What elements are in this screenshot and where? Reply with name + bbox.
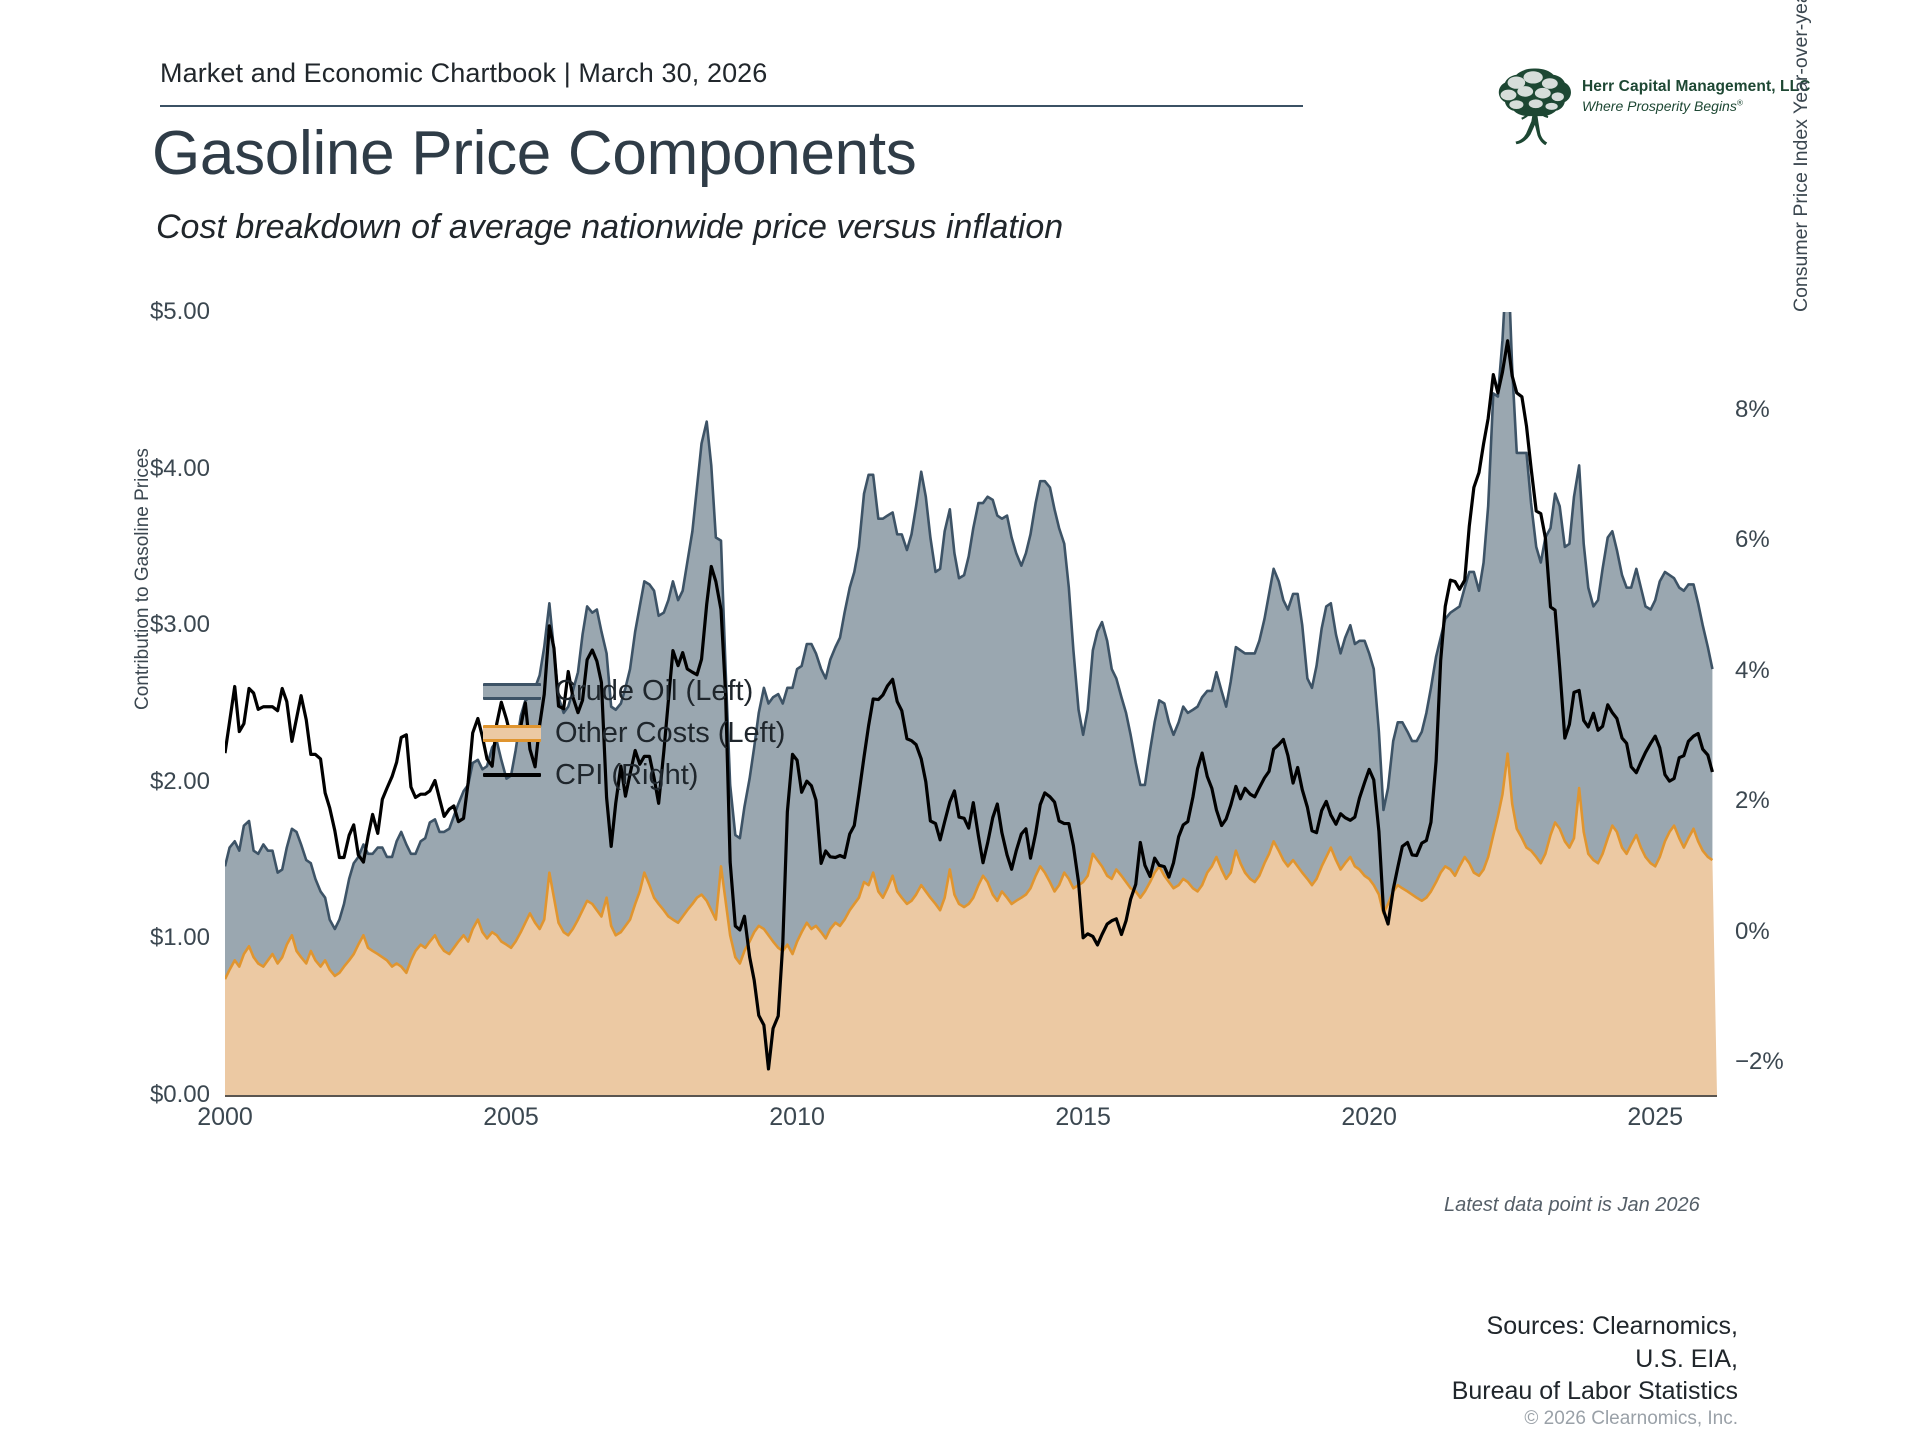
legend-item-other-costs[interactable]: Other Costs (Left) (483, 712, 785, 754)
legend-item-cpi[interactable]: CPI (Right) (483, 754, 785, 796)
copyright-note: © 2026 Clearnomics, Inc. (1524, 1408, 1738, 1430)
y-tick-right-0: −2% (1735, 1048, 1784, 1076)
x-tick-5: 2025 (1627, 1103, 1683, 1132)
x-tick-2: 2010 (769, 1103, 825, 1132)
y-tick-right-4: 6% (1735, 526, 1770, 554)
y-tick-right-1: 0% (1735, 918, 1770, 946)
legend-label-crude-oil: Crude Oil (Left) (555, 675, 753, 708)
y-tick-left-5: $5.00 (150, 298, 210, 326)
x-axis-line (225, 1095, 1717, 1097)
legend-swatch-other-costs (483, 725, 541, 742)
x-tick-3: 2015 (1055, 1103, 1111, 1132)
chart-legend: Crude Oil (Left) Other Costs (Left) CPI … (483, 670, 785, 796)
chart-series-svg (225, 312, 1717, 1095)
legend-item-crude-oil[interactable]: Crude Oil (Left) (483, 670, 785, 712)
sources-line-3: Bureau of Labor Statistics (1452, 1375, 1738, 1408)
legend-swatch-cpi (483, 773, 541, 777)
plot-area: Contribution to Gasoline Prices Consumer… (225, 312, 1717, 1095)
sources-note: Sources: Clearnomics, U.S. EIA, Bureau o… (1452, 1310, 1738, 1408)
y-axis-label-left: Contribution to Gasoline Prices (132, 448, 154, 710)
y-tick-right-2: 2% (1735, 787, 1770, 815)
legend-swatch-crude-oil (483, 683, 541, 700)
x-tick-4: 2020 (1341, 1103, 1397, 1132)
y-tick-left-4: $4.00 (150, 455, 210, 483)
slide-root: Market and Economic Chartbook | March 30… (0, 0, 1920, 1440)
legend-label-cpi: CPI (Right) (555, 759, 698, 792)
y-tick-left-2: $2.00 (150, 768, 210, 796)
y-axis-label-right: Consumer Price Index Year-over-year % Ch… (1790, 0, 1813, 312)
y-tick-right-5: 8% (1735, 396, 1770, 424)
sources-line-2: U.S. EIA, (1452, 1343, 1738, 1376)
chart-container: Contribution to Gasoline Prices Consumer… (0, 0, 1920, 1440)
latest-data-note: Latest data point is Jan 2026 (1444, 1194, 1700, 1217)
sources-line-1: Sources: Clearnomics, (1452, 1310, 1738, 1343)
y-tick-right-3: 4% (1735, 657, 1770, 685)
x-tick-0: 2000 (197, 1103, 253, 1132)
legend-label-other-costs: Other Costs (Left) (555, 717, 785, 750)
y-tick-left-1: $1.00 (150, 924, 210, 952)
x-tick-1: 2005 (483, 1103, 539, 1132)
y-tick-left-3: $3.00 (150, 611, 210, 639)
